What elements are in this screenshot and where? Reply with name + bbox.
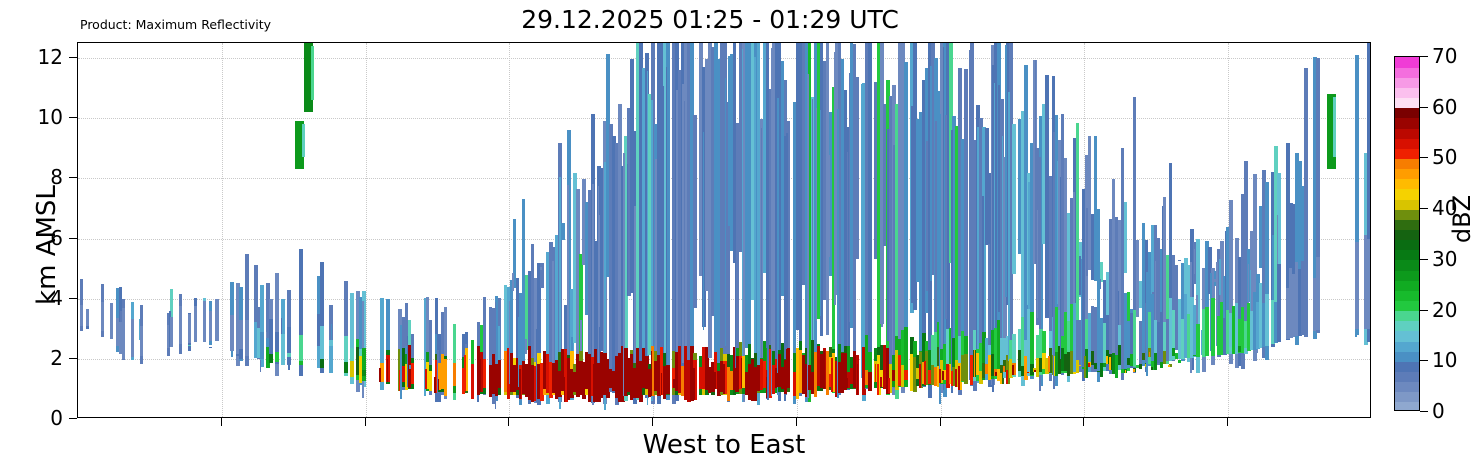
- colorbar-tick-label: 0: [1432, 399, 1445, 423]
- colorbar-segment: [1395, 209, 1419, 220]
- reflectivity-cell: [723, 364, 725, 394]
- reflectivity-cell: [209, 347, 213, 348]
- reflectivity-cell: [1008, 92, 1010, 361]
- reflectivity-cell: [1133, 310, 1137, 367]
- y-tick-label: 0: [50, 406, 63, 430]
- reflectivity-cell: [919, 364, 921, 388]
- product-label: Product: Maximum Reflectivity: [80, 17, 271, 32]
- reflectivity-cell: [471, 364, 475, 399]
- reflectivity-cell: [655, 159, 657, 379]
- reflectivity-cell: [693, 368, 695, 400]
- reflectivity-cell: [573, 375, 575, 392]
- reflectivity-cell: [945, 115, 947, 319]
- reflectivity-cell: [965, 112, 967, 369]
- reflectivity-cell: [299, 335, 303, 363]
- reflectivity-cell: [425, 369, 427, 389]
- y-tick-label: 6: [50, 226, 63, 250]
- reflectivity-cell: [80, 305, 84, 325]
- reflectivity-cell: [754, 57, 756, 396]
- reflectivity-cell: [1265, 294, 1269, 346]
- reflectivity-cell: [1005, 45, 1007, 297]
- reflectivity-cell: [603, 356, 605, 395]
- reflectivity-cell: [513, 375, 515, 392]
- colorbar-segment: [1395, 179, 1419, 190]
- reflectivity-cell: [1048, 356, 1050, 373]
- colorbar-segment: [1395, 361, 1419, 372]
- reflectivity-cell: [868, 372, 872, 391]
- reflectivity-cell: [1355, 242, 1359, 329]
- y-tick-label: 12: [38, 45, 63, 69]
- reflectivity-cell: [889, 142, 891, 380]
- reflectivity-cell: [576, 356, 578, 397]
- reflectivity-cell: [1012, 365, 1014, 375]
- reflectivity-cell: [245, 320, 249, 355]
- y-tick-label: 10: [38, 105, 63, 129]
- reflectivity-cell: [823, 131, 825, 292]
- reflectivity-cell: [537, 377, 539, 399]
- reflectivity-cell: [593, 364, 595, 402]
- colorbar-segment: [1395, 57, 1419, 68]
- reflectivity-cell: [260, 332, 264, 359]
- y-tick-label: 8: [50, 165, 63, 189]
- reflectivity-cell: [728, 56, 730, 226]
- colorbar-segment: [1395, 229, 1419, 240]
- reflectivity-cell: [599, 215, 601, 328]
- reflectivity-cell: [627, 164, 629, 296]
- reflectivity-cell: [838, 378, 840, 393]
- reflectivity-cell: [714, 372, 716, 389]
- reflectivity-cell: [994, 83, 996, 345]
- colorbar-segment: [1395, 311, 1419, 322]
- reflectivity-cell: [561, 223, 565, 240]
- reflectivity-cell: [904, 370, 908, 379]
- y-tick-mark: [69, 238, 77, 239]
- reflectivity-cell: [1277, 264, 1281, 342]
- reflectivity-cell: [1178, 260, 1182, 262]
- colorbar-segment: [1395, 341, 1419, 352]
- reflectivity-cell: [1367, 239, 1371, 329]
- reflectivity-cell: [1084, 356, 1086, 377]
- x-tick-mark: [508, 418, 509, 426]
- reflectivity-cell: [666, 67, 668, 392]
- colorbar-segment: [1395, 67, 1419, 78]
- reflectivity-cell: [820, 110, 822, 316]
- x-tick-mark: [940, 418, 941, 426]
- colorbar-tick-mark: [1420, 259, 1428, 260]
- reflectivity-cell: [1219, 259, 1221, 295]
- reflectivity-cell: [618, 362, 620, 402]
- reflectivity-cell: [140, 326, 144, 357]
- reflectivity-cell: [552, 376, 554, 392]
- reflectivity-cell: [464, 355, 466, 391]
- colorbar-segment: [1395, 158, 1419, 169]
- colorbar-segment: [1395, 77, 1419, 88]
- reflectivity-cell: [742, 49, 744, 401]
- y-tick-mark: [69, 57, 77, 58]
- reflectivity-cell: [868, 43, 872, 389]
- elevated-echo: [1333, 97, 1336, 157]
- colorbar-segment: [1395, 199, 1419, 210]
- reflectivity-cell: [299, 361, 303, 365]
- colorbar-tick-mark: [1420, 208, 1428, 209]
- colorbar: [1394, 56, 1420, 411]
- reflectivity-cell: [1003, 366, 1005, 372]
- reflectivity-cell: [512, 273, 514, 291]
- reflectivity-cell: [429, 371, 433, 391]
- reflectivity-cell: [1060, 177, 1062, 359]
- reflectivity-cell: [831, 358, 833, 392]
- colorbar-tick-mark: [1420, 107, 1428, 108]
- reflectivity-cell: [735, 368, 737, 392]
- colorbar-segment: [1395, 128, 1419, 139]
- reflectivity-cell: [834, 52, 836, 304]
- reflectivity-cell: [1000, 373, 1002, 384]
- reflectivity-cell: [525, 339, 527, 354]
- reflectivity-cell: [699, 74, 701, 267]
- reflectivity-cell: [687, 111, 689, 400]
- reflectivity-cell: [939, 369, 941, 383]
- colorbar-gradient: [1394, 56, 1420, 411]
- reflectivity-cell: [663, 86, 665, 370]
- reflectivity-cell: [693, 180, 695, 290]
- y-tick-mark: [69, 358, 77, 359]
- colorbar-tick-mark: [1420, 56, 1428, 57]
- colorbar-segment: [1395, 382, 1419, 393]
- reflectivity-cell: [170, 317, 174, 347]
- reflectivity-cell: [110, 303, 114, 338]
- reflectivity-cell: [703, 132, 705, 331]
- plot-area: [77, 42, 1371, 418]
- colorbar-segment: [1395, 169, 1419, 180]
- reflectivity-cell: [626, 364, 628, 392]
- reflectivity-cell: [811, 380, 813, 394]
- reflectivity-cell: [771, 48, 773, 396]
- reflectivity-cell: [188, 314, 192, 343]
- colorbar-segment: [1395, 351, 1419, 362]
- colorbar-tick-mark: [1420, 411, 1428, 412]
- reflectivity-cell: [194, 306, 198, 342]
- colorbar-segment: [1395, 148, 1419, 159]
- reflectivity-cell: [741, 358, 743, 388]
- elevated-echo: [311, 46, 314, 100]
- colorbar-segment: [1395, 392, 1419, 403]
- reflectivity-cell: [179, 306, 183, 343]
- reflectivity-cell: [709, 376, 711, 393]
- colorbar-segment: [1395, 260, 1419, 271]
- colorbar-tick-label: 60: [1432, 95, 1457, 119]
- y-tick-label: 2: [50, 346, 63, 370]
- reflectivity-cell: [807, 74, 809, 398]
- reflectivity-cell: [684, 101, 686, 377]
- reflectivity-cell: [679, 97, 681, 334]
- reflectivity-cell: [958, 366, 960, 390]
- reflectivity-cell: [131, 319, 135, 358]
- reflectivity-cell: [438, 379, 440, 390]
- reflectivity-cell: [982, 196, 984, 343]
- elevated-echo: [302, 124, 305, 157]
- colorbar-segment: [1395, 108, 1419, 119]
- reflectivity-cell: [567, 185, 569, 380]
- reflectivity-cell: [1027, 372, 1029, 373]
- reflectivity-cell: [543, 368, 545, 389]
- colorbar-segment: [1395, 98, 1419, 109]
- reflectivity-cell: [564, 377, 566, 402]
- colorbar-segment: [1395, 189, 1419, 200]
- reflectivity-cell: [856, 77, 860, 260]
- reflectivity-cell: [1196, 324, 1200, 358]
- colorbar-segment: [1395, 402, 1419, 411]
- colorbar-tick-mark: [1420, 157, 1428, 158]
- reflectivity-cell: [362, 370, 366, 376]
- colorbar-segment: [1395, 290, 1419, 301]
- reflectivity-cell: [786, 349, 788, 388]
- colorbar-segment: [1395, 300, 1419, 311]
- reflectivity-cell: [1151, 367, 1153, 371]
- colorbar-segment: [1395, 331, 1419, 342]
- reflectivity-cell: [1037, 210, 1039, 318]
- reflectivity-cell: [1006, 370, 1008, 384]
- x-axis-label: West to East: [77, 430, 1371, 460]
- reflectivity-cell: [215, 299, 219, 342]
- reflectivity-cell: [453, 363, 457, 385]
- y-tick-mark: [69, 298, 77, 299]
- colorbar-segment: [1395, 240, 1419, 251]
- reflectivity-cell: [411, 363, 415, 384]
- reflectivity-cell: [964, 354, 968, 385]
- reflectivity-cell: [924, 361, 926, 386]
- reflectivity-cell: [1012, 124, 1016, 274]
- reflectivity-cell: [269, 354, 273, 362]
- reflectivity-cell: [1211, 298, 1215, 356]
- reflectivity-cell: [1205, 307, 1209, 357]
- reflectivity-cell: [888, 378, 890, 393]
- reflectivity-cell: [281, 334, 285, 364]
- reflectivity-cell: [1168, 365, 1170, 368]
- colorbar-segment: [1395, 280, 1419, 291]
- reflectivity-field: [78, 43, 1370, 417]
- x-tick-mark: [796, 418, 797, 426]
- reflectivity-cell: [951, 371, 953, 386]
- reflectivity-cell: [86, 309, 90, 326]
- reflectivity-cell: [618, 146, 620, 371]
- x-tick-mark: [1083, 418, 1084, 426]
- reflectivity-cell: [930, 66, 932, 280]
- reflectivity-cell: [519, 369, 521, 399]
- x-tick-mark: [652, 418, 653, 426]
- reflectivity-cell: [497, 373, 499, 388]
- reflectivity-cell: [239, 349, 243, 359]
- reflectivity-cell: [387, 359, 389, 382]
- reflectivity-cell: [1304, 250, 1308, 334]
- reflectivity-cell: [608, 380, 610, 388]
- reflectivity-cell: [777, 373, 779, 387]
- reflectivity-cell: [640, 380, 642, 402]
- x-tick-mark: [365, 418, 366, 426]
- reflectivity-cell: [230, 315, 234, 350]
- reflectivity-cell: [444, 359, 448, 396]
- reflectivity-cell: [1057, 161, 1059, 305]
- reflectivity-cell: [287, 327, 291, 364]
- reflectivity-cell: [287, 353, 291, 357]
- reflectivity-cell: [661, 373, 663, 395]
- reflectivity-cell: [942, 371, 944, 380]
- reflectivity-cell: [579, 374, 581, 394]
- reflectivity-cell: [651, 351, 653, 396]
- reflectivity-cell: [1054, 356, 1056, 376]
- colorbar-segment: [1395, 321, 1419, 332]
- reflectivity-cell: [969, 50, 971, 379]
- radar-cross-section-figure: 29.12.2025 01:25 - 01:29 UTC Product: Ma…: [0, 0, 1482, 470]
- reflectivity-cell: [1100, 279, 1102, 289]
- reflectivity-cell: [877, 364, 879, 395]
- reflectivity-cell: [880, 377, 882, 386]
- reflectivity-cell: [209, 311, 213, 341]
- reflectivity-cell: [320, 359, 324, 368]
- reflectivity-cell: [974, 350, 976, 376]
- reflectivity-cell: [379, 368, 381, 382]
- colorbar-segment: [1395, 87, 1419, 98]
- reflectivity-cell: [350, 361, 354, 378]
- reflectivity-cell: [642, 90, 644, 381]
- y-tick-mark: [69, 117, 77, 118]
- y-tick-label: 4: [50, 286, 63, 310]
- colorbar-tick-mark: [1420, 310, 1428, 311]
- reflectivity-cell: [735, 179, 737, 375]
- colorbar-segment: [1395, 118, 1419, 129]
- reflectivity-cell: [188, 345, 192, 346]
- reflectivity-cell: [1106, 356, 1108, 364]
- reflectivity-cell: [122, 308, 126, 358]
- reflectivity-cell: [829, 155, 831, 258]
- x-tick-mark: [221, 418, 222, 426]
- colorbar-segment: [1395, 219, 1419, 230]
- y-tick-mark: [69, 177, 77, 178]
- colorbar-tick-label: 10: [1432, 348, 1457, 372]
- colorbar-segment: [1395, 371, 1419, 382]
- colorbar-segment: [1395, 250, 1419, 261]
- reflectivity-cell: [861, 84, 863, 378]
- reflectivity-cell: [275, 352, 279, 362]
- reflectivity-cell: [849, 73, 851, 321]
- reflectivity-cell: [1133, 369, 1135, 372]
- colorbar-title: dBZ: [1448, 149, 1476, 289]
- reflectivity-cell: [344, 362, 348, 373]
- reflectivity-cell: [483, 359, 487, 387]
- reflectivity-cell: [846, 378, 848, 388]
- colorbar-tick-label: 20: [1432, 298, 1457, 322]
- reflectivity-cell: [1124, 202, 1128, 273]
- reflectivity-cell: [540, 267, 542, 271]
- reflectivity-cell: [203, 301, 207, 342]
- reflectivity-cell: [1316, 257, 1320, 330]
- x-tick-mark: [1227, 418, 1228, 426]
- reflectivity-cell: [1086, 208, 1088, 276]
- reflectivity-cell: [949, 365, 951, 384]
- y-tick-mark: [69, 418, 77, 419]
- reflectivity-cell: [434, 377, 436, 393]
- reflectivity-cell: [816, 108, 818, 322]
- colorbar-tick-mark: [1420, 360, 1428, 361]
- reflectivity-cell: [1076, 123, 1080, 336]
- reflectivity-cell: [1162, 206, 1164, 328]
- reflectivity-cell: [479, 359, 481, 393]
- colorbar-segment: [1395, 270, 1419, 281]
- reflectivity-cell: [260, 360, 262, 372]
- reflectivity-cell: [329, 346, 333, 373]
- reflectivity-cell: [857, 364, 859, 394]
- reflectivity-cell: [666, 365, 670, 395]
- reflectivity-cell: [101, 302, 105, 331]
- colorbar-tick-label: 70: [1432, 44, 1457, 68]
- colorbar-segment: [1395, 138, 1419, 149]
